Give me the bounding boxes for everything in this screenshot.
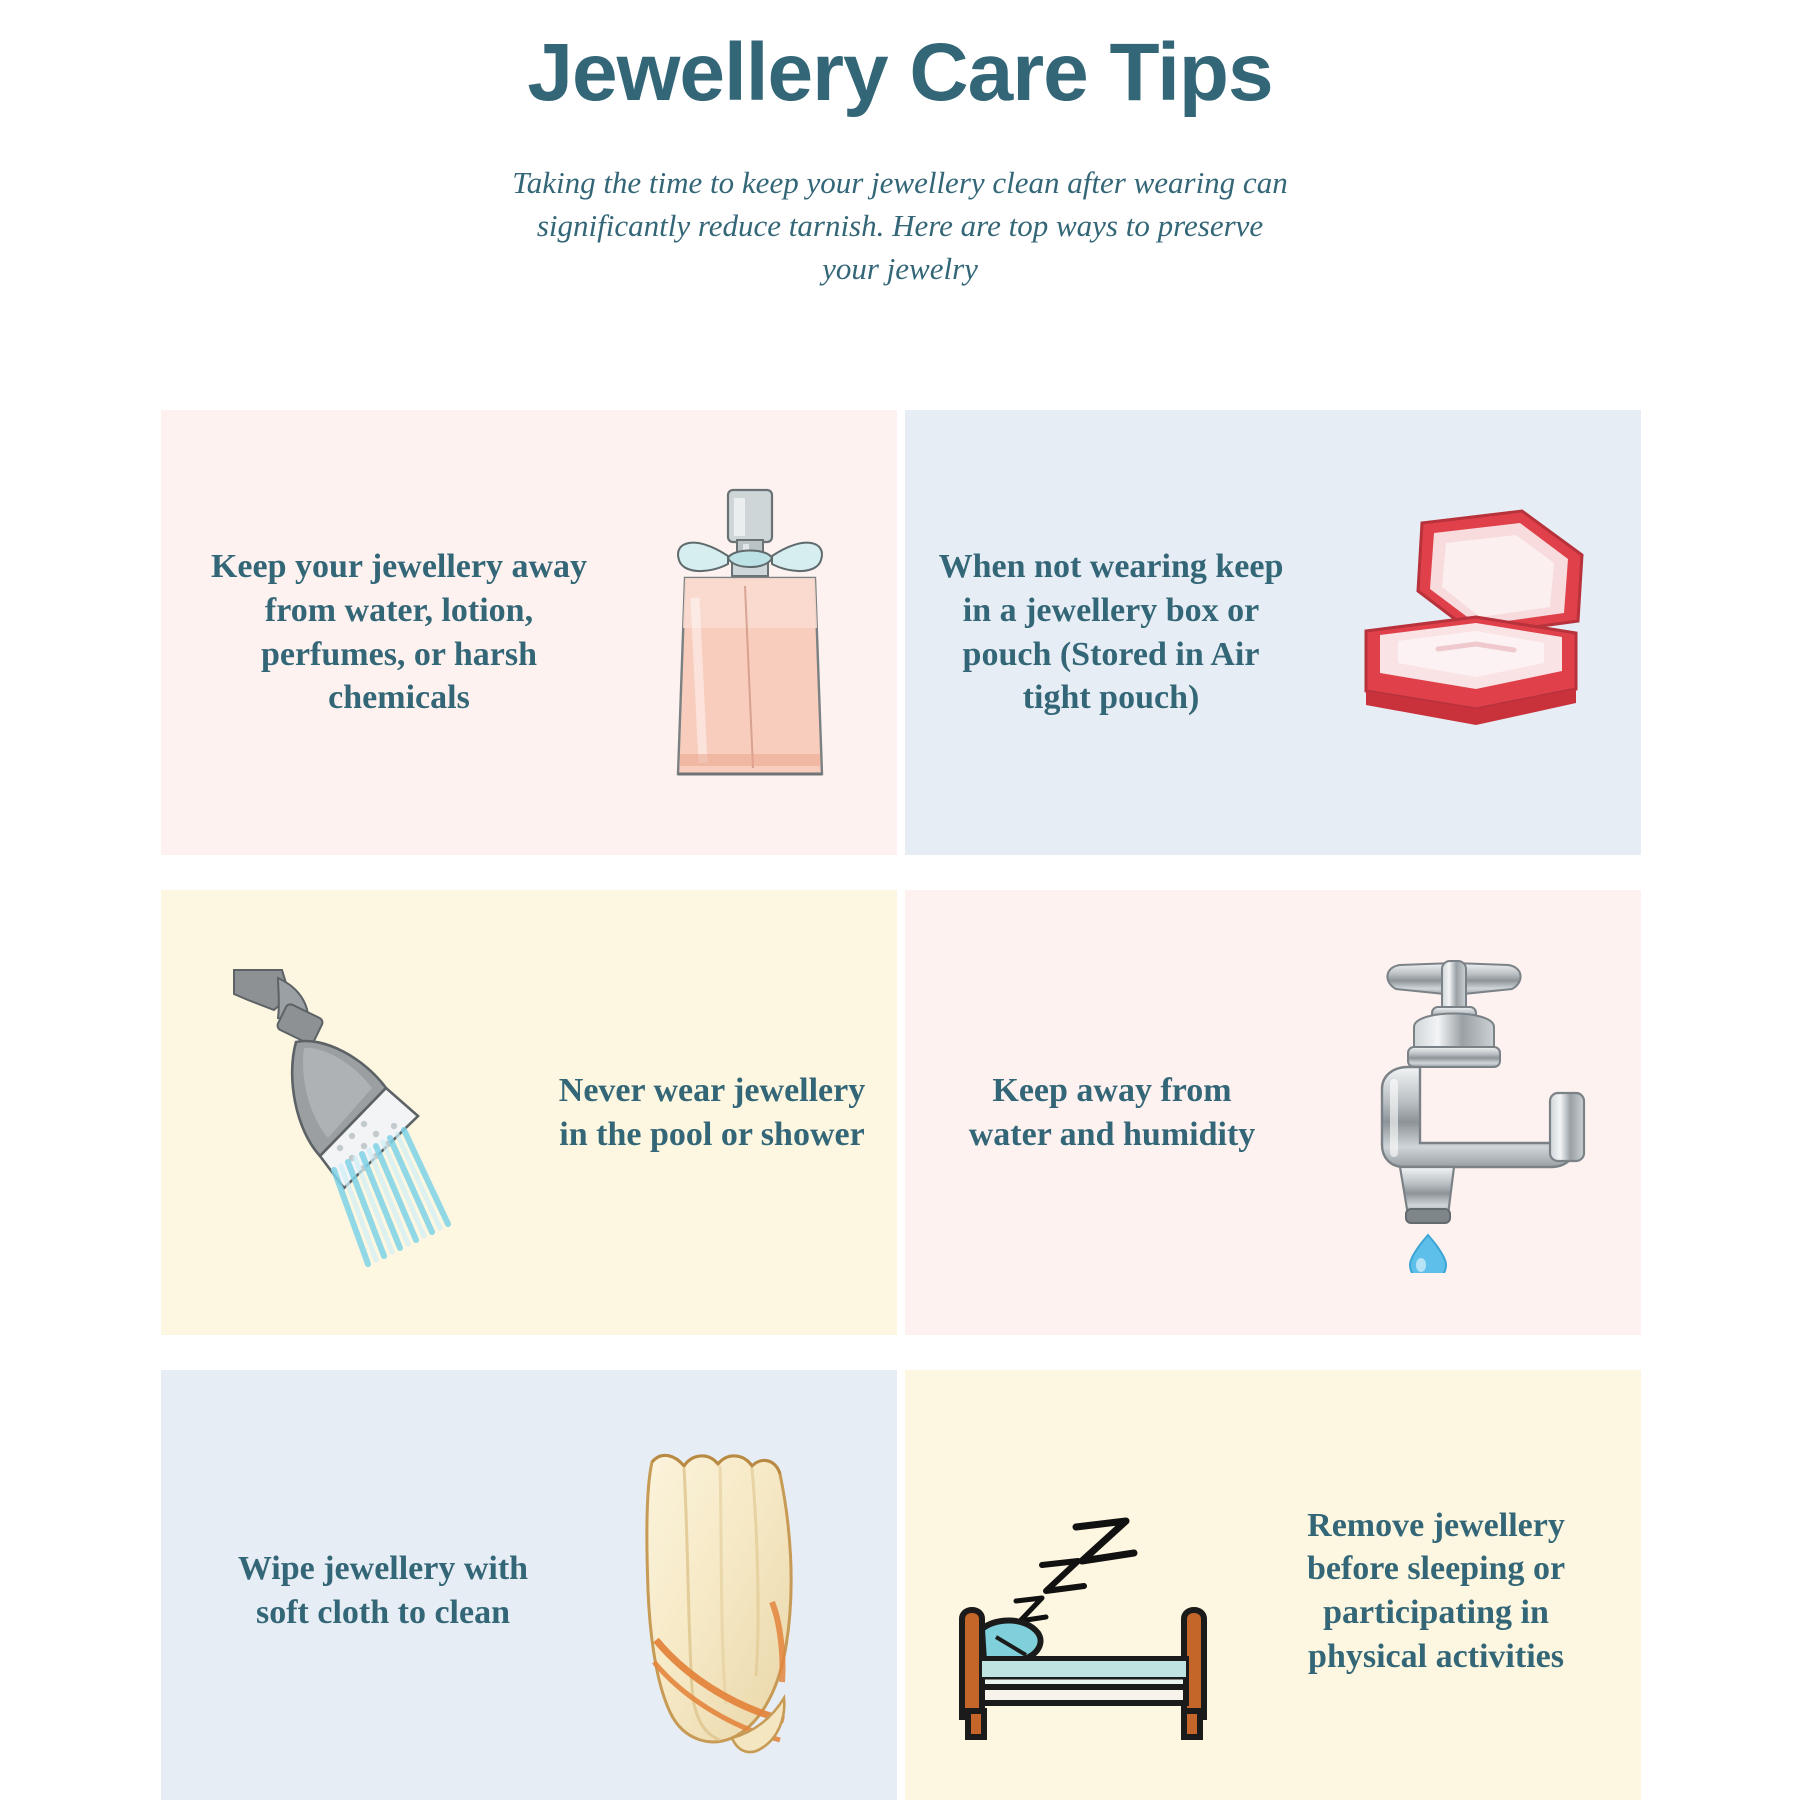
tip-card-label: Keep away from water and humidity [957,1069,1267,1156]
page-title: Jewellery Care Tips [0,26,1800,120]
tip-card-bed: Remove jewellery before sleeping or part… [905,1370,1641,1800]
jewellery-box-icon [1291,410,1641,855]
tips-grid: Keep your jewellery away from water, lot… [161,410,1641,1800]
faucet-icon [1267,890,1641,1335]
tip-card-label: Keep your jewellery away from water, lot… [199,545,599,719]
page-subtitle: Taking the time to keep your jewellery c… [505,162,1295,290]
tip-card-shower: Never wear jewellery in the pool or show… [161,890,897,1335]
tip-card-cloth: Wipe jewellery with soft cloth to clean [161,1370,897,1800]
tip-card-faucet: Keep away from water and humidity [905,890,1641,1335]
cloth-icon [543,1370,897,1800]
tip-card-perfume: Keep your jewellery away from water, lot… [161,410,897,855]
infographic-page: Jewellery Care Tips Taking the time to k… [0,0,1800,1800]
tip-card-label: When not wearing keep in a jewellery box… [931,545,1291,719]
bed-sleeping-icon [905,1370,1291,1800]
tip-card-jewellery-box: When not wearing keep in a jewellery box… [905,410,1641,855]
header: Jewellery Care Tips Taking the time to k… [0,0,1800,291]
tip-card-label: Remove jewellery before sleeping or part… [1291,1504,1581,1678]
tip-card-label: Wipe jewellery with soft cloth to clean [223,1547,543,1634]
perfume-bottle-icon [599,410,897,855]
showerhead-icon [161,890,547,1335]
tip-card-label: Never wear jewellery in the pool or show… [547,1069,877,1156]
